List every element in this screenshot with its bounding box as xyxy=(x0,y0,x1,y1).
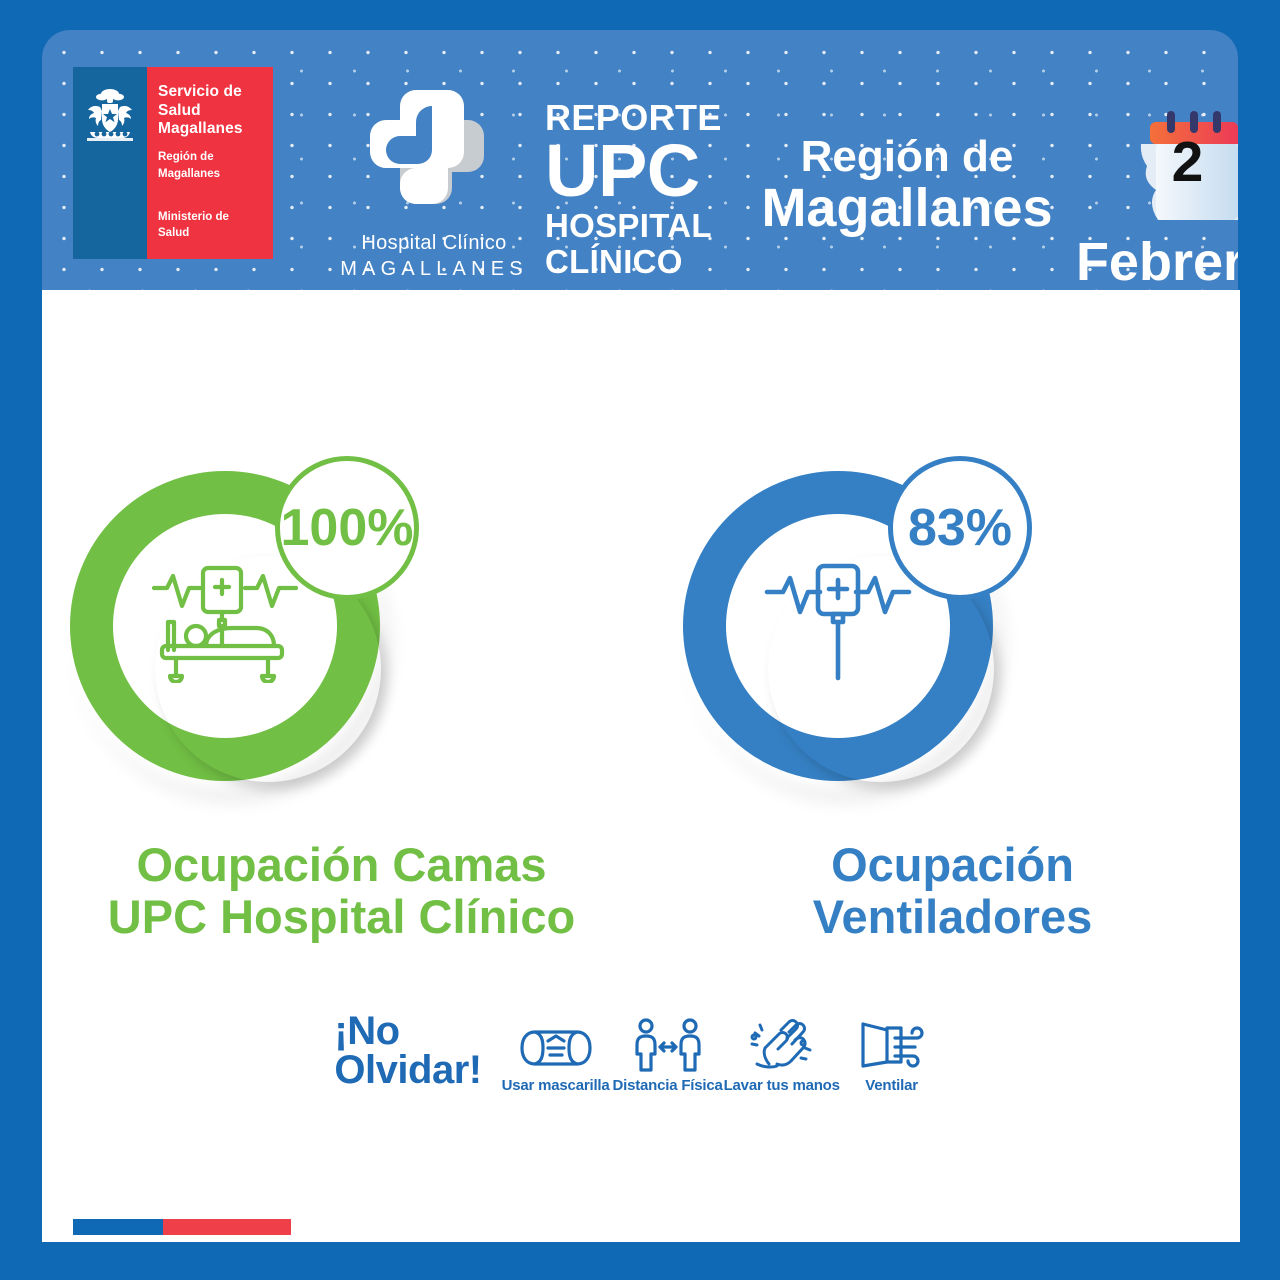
reminder-item-lavado: Lavar tus manos xyxy=(724,1016,836,1094)
reminder-item-ventilar: Ventilar xyxy=(836,1016,948,1094)
gauge-camas-percent-badge: 100% xyxy=(275,456,419,600)
reminder-item-distancia: Distancia Física xyxy=(612,1016,724,1094)
content-panel: 100% Ocupación Camas UPC Hospital Clínic… xyxy=(42,290,1240,1242)
reminder-label-lavado: Lavar tus manos xyxy=(724,1077,836,1094)
gauge-ventiladores-percent-badge: 83% xyxy=(888,456,1032,600)
reminder-item-mascarilla: Usar mascarilla xyxy=(500,1016,612,1094)
gauge-ventiladores-ring-wrap: 83% xyxy=(641,465,1240,825)
calendar-day-number: 2 xyxy=(1130,134,1238,191)
wash-hands-icon xyxy=(724,1016,836,1072)
reminder-label-ventilar: Ventilar xyxy=(836,1077,948,1094)
ministry-logo-flag-blue xyxy=(73,67,147,259)
reminder-headline-line1: ¡No xyxy=(334,1012,481,1051)
hospital-clinico-logo: Hospital Clínico MAGALLANES xyxy=(334,90,534,290)
report-title: REPORTE UPC HOSPITAL CLÍNICO xyxy=(545,100,722,278)
poster-root: Servicio de Salud Magallanes Región de M… xyxy=(0,0,1280,1280)
gauge-ventiladores-caption-line1: Ocupación xyxy=(653,839,1252,891)
hospital-name-top: Hospital Clínico xyxy=(334,232,534,255)
gauge-ventiladores-caption-line2: Ventiladores xyxy=(653,891,1252,943)
reminder-strip: ¡No Olvidar! Usar mascarilla xyxy=(42,1012,1240,1094)
header-banner: Servicio de Salud Magallanes Región de M… xyxy=(42,30,1238,290)
ministry-service-name: Servicio de Salud Magallanes xyxy=(158,83,243,139)
reminder-label-distancia: Distancia Física xyxy=(612,1077,724,1094)
physical-distance-icon xyxy=(612,1016,724,1072)
calendar-icon: 2 xyxy=(1130,108,1238,228)
gauge-camas-caption-line2: UPC Hospital Clínico xyxy=(42,891,641,943)
gauge-camas-caption-line1: Ocupación Camas xyxy=(42,839,641,891)
medical-cross-logo-icon xyxy=(370,90,495,225)
ministry-logo-flag-red: Servicio de Salud Magallanes Región de M… xyxy=(147,67,273,259)
footer-flag-red xyxy=(163,1219,291,1235)
region-title-line2: Magallanes xyxy=(742,180,1072,236)
gauge-ventiladores: 83% Ocupación Ventiladores xyxy=(641,465,1240,985)
ministry-name: Ministerio de Salud xyxy=(158,209,229,242)
footer-flag-bar xyxy=(73,1219,293,1235)
gauge-camas-caption: Ocupación Camas UPC Hospital Clínico xyxy=(42,839,641,942)
region-title: Región de Magallanes xyxy=(742,134,1072,236)
gauge-ventiladores-caption: Ocupación Ventiladores xyxy=(653,839,1252,942)
report-title-line2: UPC xyxy=(545,134,722,208)
report-title-line4: CLÍNICO xyxy=(545,245,722,278)
face-mask-icon xyxy=(500,1016,612,1072)
footer-flag-blue xyxy=(73,1219,163,1235)
reminder-headline: ¡No Olvidar! xyxy=(334,1012,481,1094)
report-title-line3: HOSPITAL xyxy=(545,209,722,242)
reminder-label-mascarilla: Usar mascarilla xyxy=(500,1077,612,1094)
region-title-line1: Región de xyxy=(742,134,1072,180)
reminder-headline-line2: Olvidar! xyxy=(334,1051,481,1090)
gauge-camas-ring-wrap: 100% xyxy=(42,465,641,825)
report-month: Febrero xyxy=(997,235,1238,289)
ministry-logo: Servicio de Salud Magallanes Región de M… xyxy=(73,67,273,259)
chile-coat-of-arms-icon xyxy=(82,87,138,154)
gauges-row: 100% Ocupación Camas UPC Hospital Clínic… xyxy=(42,465,1240,985)
gauge-camas-upc: 100% Ocupación Camas UPC Hospital Clínic… xyxy=(42,465,641,985)
ministry-region-name: Región de Magallanes xyxy=(158,149,220,182)
hospital-name-bottom: MAGALLANES xyxy=(334,258,534,281)
ventilate-room-icon xyxy=(836,1016,948,1072)
